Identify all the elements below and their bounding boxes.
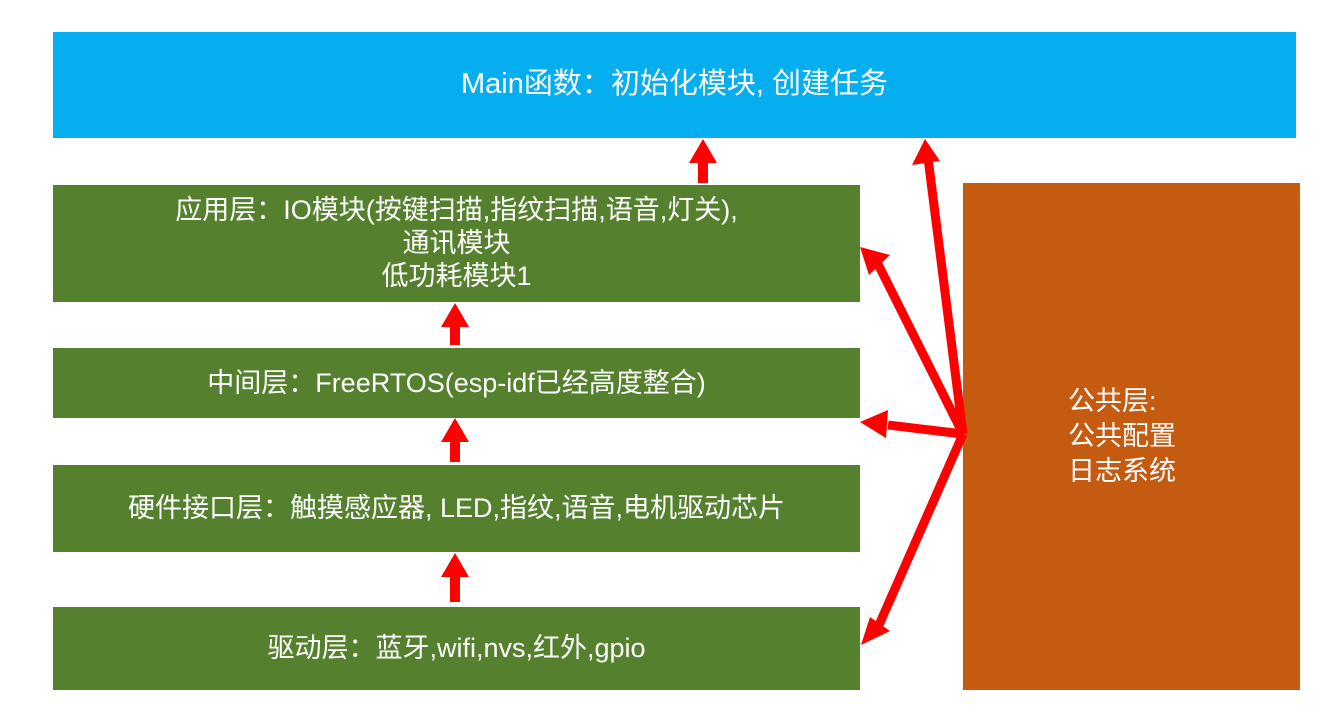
- arrow-application-to-main: [689, 139, 717, 183]
- arrow-driver-to-hardware: [441, 553, 469, 602]
- arrow-common-to-application: [860, 247, 963, 434]
- arrow-middle-to-application: [441, 303, 469, 345]
- driver-layer-box[interactable]: 驱动层：蓝牙,wifi,nvs,红外,gpio: [53, 607, 860, 690]
- diagram-canvas: Main函数：初始化模块, 创建任务 应用层：IO模块(按键扫描,指纹扫描,语音…: [0, 0, 1338, 714]
- arrow-common-to-main: [912, 139, 963, 434]
- hardware-interface-layer-box[interactable]: 硬件接口层：触摸感应器, LED,指纹,语音,电机驱动芯片: [53, 465, 860, 552]
- arrow-common-to-driver: [861, 434, 963, 645]
- middle-layer-box[interactable]: 中间层：FreeRTOS(esp-idf已经高度整合): [53, 348, 860, 418]
- main-function-box[interactable]: Main函数：初始化模块, 创建任务: [53, 32, 1296, 138]
- common-layer-box[interactable]: 公共层: 公共配置 日志系统: [963, 183, 1300, 690]
- arrow-hardware-to-middle: [441, 418, 469, 462]
- arrow-common-to-middle: [860, 410, 963, 438]
- application-layer-box[interactable]: 应用层：IO模块(按键扫描,指纹扫描,语音,灯关), 通讯模块 低功耗模块1: [53, 185, 860, 302]
